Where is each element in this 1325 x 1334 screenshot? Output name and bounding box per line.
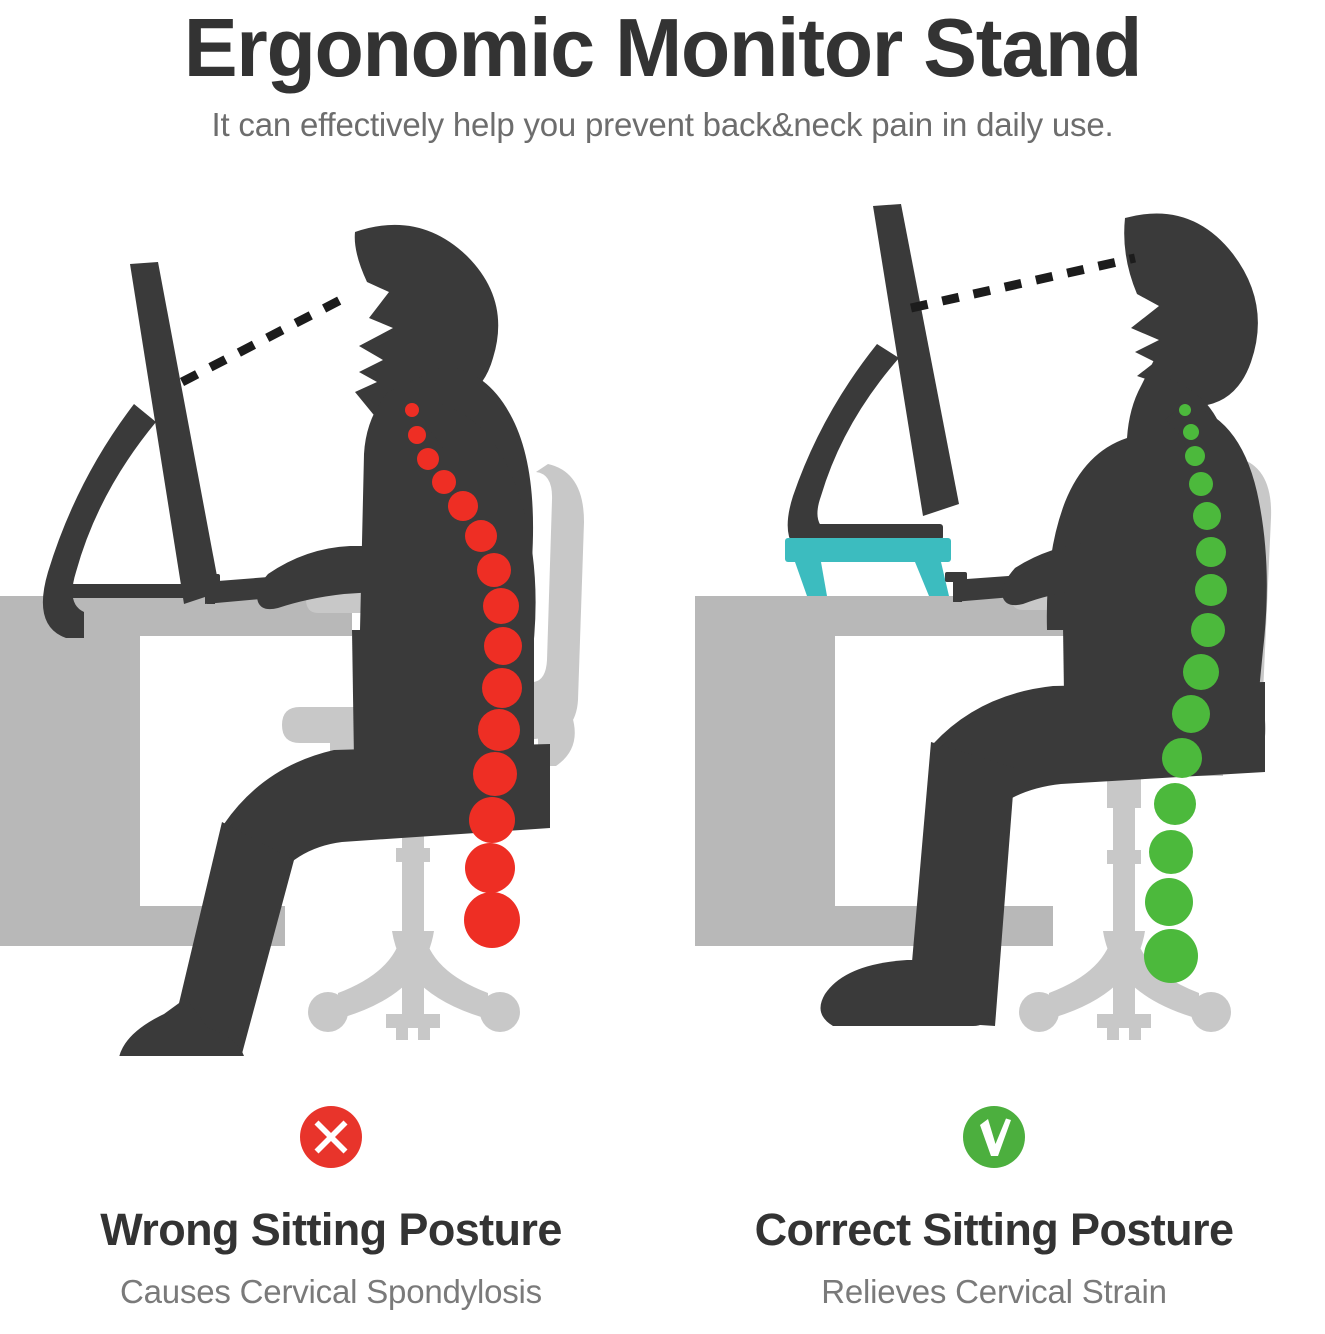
monitor: [788, 204, 959, 558]
caption-row: Wrong Sitting Posture Causes Cervical Sp…: [0, 1090, 1325, 1334]
monitor: [43, 262, 220, 638]
correct-posture-subtitle: Relieves Cervical Strain: [663, 1255, 1325, 1311]
correct-posture-caption: Correct Sitting Posture Relieves Cervica…: [663, 1090, 1325, 1311]
wrong-posture-subtitle: Causes Cervical Spondylosis: [0, 1255, 662, 1311]
wrong-posture-scene: [0, 196, 662, 1056]
sight-line: [182, 294, 352, 382]
monitor-stand: [785, 538, 951, 596]
check-circle-icon: [963, 1106, 1025, 1168]
wrong-posture-caption: Wrong Sitting Posture Causes Cervical Sp…: [0, 1090, 662, 1311]
cross-circle-icon: [300, 1106, 362, 1168]
infographic-page: Ergonomic Monitor Stand It can effective…: [0, 0, 1325, 1334]
page-title: Ergonomic Monitor Stand: [20, 0, 1305, 92]
correct-posture-scene: [663, 196, 1325, 1056]
correct-posture-title: Correct Sitting Posture: [663, 1168, 1325, 1255]
page-subtitle: It can effectively help you prevent back…: [0, 92, 1325, 144]
illustration-row: [0, 196, 1325, 1056]
header: Ergonomic Monitor Stand It can effective…: [0, 0, 1325, 144]
sight-line: [911, 258, 1135, 308]
wrong-posture-title: Wrong Sitting Posture: [0, 1168, 662, 1255]
